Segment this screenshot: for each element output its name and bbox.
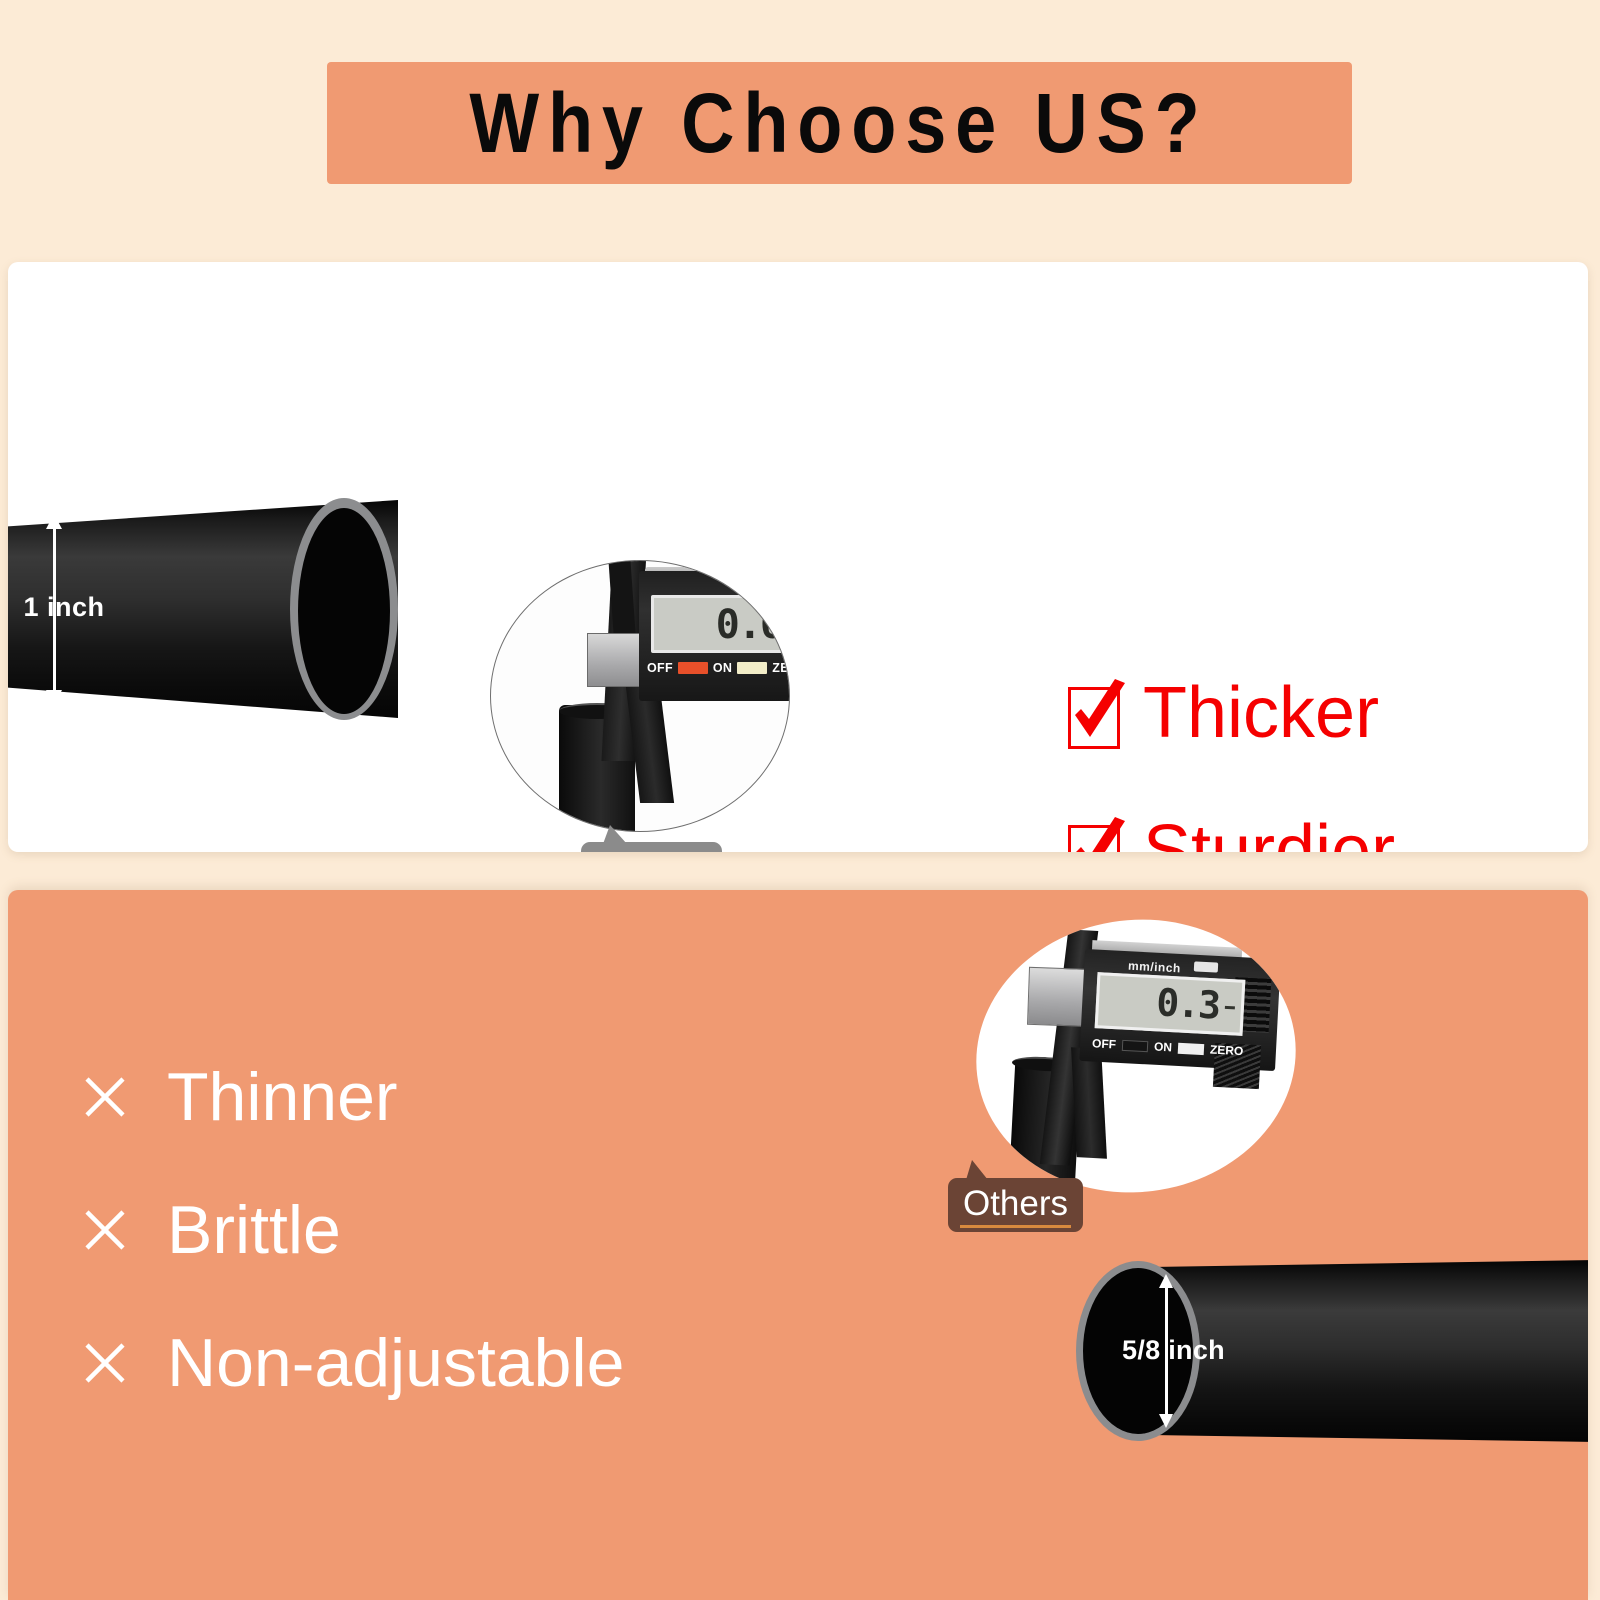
- others-tube-illustration: 5/8 inch: [1076, 1260, 1588, 1442]
- our-badge-pointer-icon: [603, 825, 627, 844]
- caliper-on-label: ON: [713, 661, 732, 675]
- page-title-banner: Why Choose US?: [327, 62, 1352, 184]
- cross-mark-icon: [83, 1075, 127, 1119]
- list-item: Non-adjustable: [83, 1296, 783, 1429]
- our-badge-label: our: [625, 848, 679, 852]
- others-caliper-zero-button[interactable]: [1178, 1042, 1205, 1054]
- our-tube-dimension-label: 1 inch: [8, 592, 144, 623]
- checkbox-checked-icon: [1068, 817, 1121, 852]
- our-badge: our: [581, 842, 722, 852]
- drawback-label: Thinner: [167, 1063, 398, 1131]
- others-badge-underline: [960, 1225, 1071, 1228]
- others-caliper-on-label: ON: [1154, 1040, 1173, 1055]
- others-caliper-inner: mm/inch 0.3 OFF ON ZERO: [976, 920, 1296, 1192]
- caliper-zero-label: ZERO: [772, 661, 789, 675]
- checkbox-checked-icon: [1068, 679, 1121, 747]
- caliper-lcd-screen: 0.6 mm: [651, 595, 789, 653]
- others-badge-label: Others: [963, 1186, 1068, 1225]
- others-badge-pointer-icon: [966, 1160, 988, 1180]
- our-caliper-clip: 0.6 mm OFF ON ZERO: [491, 561, 789, 831]
- feature-label: Thicker: [1143, 677, 1379, 749]
- caliper-off-button[interactable]: [678, 662, 708, 674]
- others-drawbacks-list: Thinner Brittle Non-adjustable: [83, 1030, 783, 1429]
- our-caliper-reading: 0.6: [716, 602, 782, 648]
- others-badge: Others: [948, 1178, 1083, 1232]
- tube-bore: [298, 508, 390, 714]
- others-caliper-off-button[interactable]: [1122, 1039, 1149, 1051]
- caliper-off-label: OFF: [647, 661, 673, 675]
- others-tube-dimension-label: 5/8 inch: [1076, 1335, 1271, 1366]
- our-caliper-unit: mm: [782, 616, 789, 625]
- feature-label: Sturdier: [1143, 815, 1395, 852]
- page-title: Why Choose US?: [470, 75, 1209, 172]
- others-caliper-zero-label: ZERO: [1210, 1042, 1244, 1058]
- list-item: Brittle: [83, 1163, 783, 1296]
- list-item: Thicker: [1068, 644, 1538, 782]
- cross-mark-icon: [83, 1341, 127, 1385]
- others-caliper-lower-jaw: [1071, 1047, 1107, 1158]
- others-caliper-photo: mm/inch 0.3 OFF ON ZERO: [961, 902, 1312, 1211]
- drawback-label: Non-adjustable: [167, 1329, 624, 1397]
- others-caliper-lcd-mark: [1225, 1006, 1235, 1010]
- others-caliper-mode-button[interactable]: [1194, 961, 1218, 972]
- our-product-panel: 1 inch 0.6 mm OFF ON ZERO: [8, 262, 1588, 852]
- cross-mark-icon: [83, 1208, 127, 1252]
- our-caliper-photo: 0.6 mm OFF ON ZERO: [490, 560, 790, 832]
- drawback-label: Brittle: [167, 1196, 341, 1264]
- others-diameter-arrow-head-up: [1159, 1274, 1173, 1288]
- list-item: Sturdier: [1068, 782, 1538, 852]
- others-diameter-arrow-head-down: [1159, 1414, 1173, 1428]
- others-caliper-lcd-screen: 0.3: [1095, 972, 1246, 1036]
- others-caliper-mode-label: mm/inch: [1128, 959, 1182, 976]
- caliper-zero-button[interactable]: [737, 662, 767, 674]
- others-caliper-off-label: OFF: [1092, 1036, 1117, 1051]
- our-features-list: Thicker Sturdier Adjustable: [1068, 644, 1538, 852]
- list-item: Thinner: [83, 1030, 783, 1163]
- our-tube-illustration: 1 inch: [8, 500, 398, 718]
- caliper-button-row: OFF ON ZERO: [647, 657, 789, 679]
- others-product-panel: Thinner Brittle Non-adjustable: [8, 890, 1588, 1600]
- diameter-arrow-head-down: [46, 690, 62, 705]
- others-caliper-reading: 0.3: [1155, 980, 1220, 1027]
- diameter-arrow-head-up: [46, 514, 62, 529]
